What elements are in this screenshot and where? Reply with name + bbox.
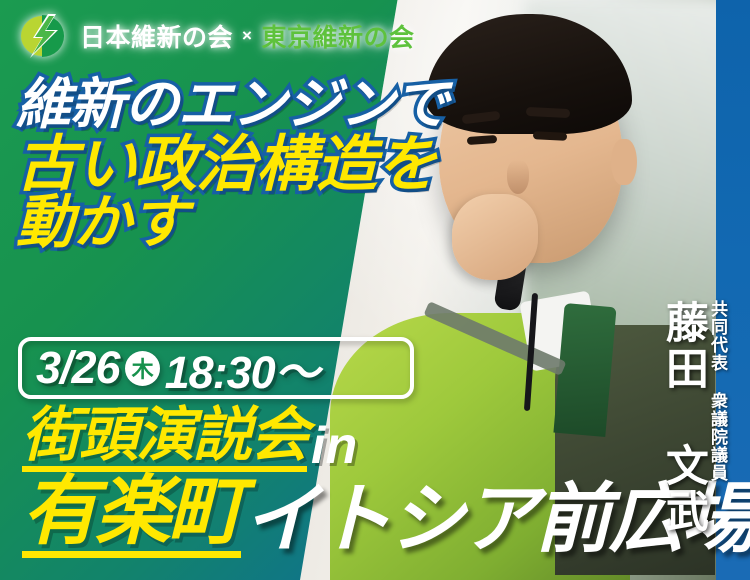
event-title: 街頭演説会 xyxy=(22,406,307,472)
speaker-nose xyxy=(507,160,529,194)
party-name-main: 日本維新の会 xyxy=(80,18,233,54)
event-datetime-banner: 3/26 木 18:30〜 xyxy=(18,337,414,399)
party-header: 日本維新の会 × 東京維新の会 xyxy=(0,0,750,72)
speaker-name: 藤田 文武 xyxy=(660,300,705,535)
event-date: 3/26 xyxy=(36,342,120,394)
campaign-poster: 日本維新の会 × 東京維新の会 維新のエンジンで 古い政治構造を 動かす 維新の… xyxy=(0,0,750,580)
speaker-title: 共同代表 衆議院議員 xyxy=(707,300,726,482)
event-preposition: in xyxy=(311,420,357,472)
headline: 維新のエンジンで 古い政治構造を 動かす xyxy=(16,78,448,251)
headline-line-3: 動かす xyxy=(16,195,448,251)
event-datetime-text: 3/26 木 18:30〜 xyxy=(36,336,319,401)
ishin-lightning-logo-icon xyxy=(18,12,70,60)
venue-area: 有楽町 xyxy=(22,474,241,558)
party-names: 日本維新の会 × 東京維新の会 xyxy=(80,18,414,54)
speaker-hand xyxy=(452,194,538,280)
party-separator-icon: × xyxy=(242,26,252,46)
speaker-eye-left xyxy=(466,135,496,145)
event-venue-line: 有楽町 イトシア前広場 xyxy=(22,474,750,558)
event-day-of-week-badge: 木 xyxy=(125,351,160,386)
party-name-sub: 東京維新の会 xyxy=(261,18,414,54)
speaker-ear xyxy=(611,139,637,185)
event-title-line: 街頭演説会 in xyxy=(22,406,357,472)
event-time: 18:30〜 xyxy=(165,336,319,401)
headline-line-1: 維新のエンジンで xyxy=(16,78,448,131)
speaker-credit: 藤田 文武 共同代表 衆議院議員 xyxy=(660,300,726,535)
headline-line-2: 古い政治構造を xyxy=(16,135,448,194)
